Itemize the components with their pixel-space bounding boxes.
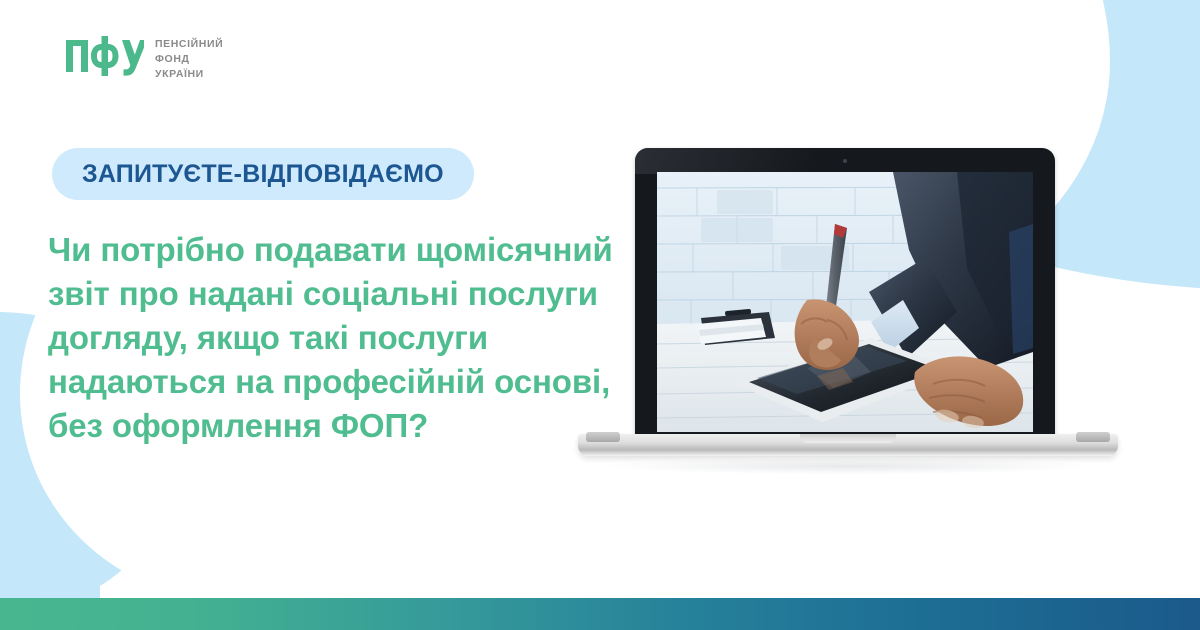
pfu-logo-wordmark: Пенсійний Фонд України (155, 36, 223, 82)
bottom-gradient-bar (0, 598, 1200, 630)
logo-word-line-2: Фонд (155, 53, 223, 67)
headline-line: Чи потрібно подавати щомісячний (48, 228, 648, 272)
photo-signing-on-tablet (657, 172, 1033, 432)
question-headline: Чи потрібно подавати щомісячний звіт про… (48, 228, 648, 448)
laptop-base-notch (800, 434, 896, 443)
laptop-lid (635, 148, 1055, 440)
laptop-screen (657, 172, 1033, 432)
poster-canvas: Пенсійний Фонд України ЗАПИТУЄТЕ-ВІДПОВІ… (0, 0, 1200, 630)
category-badge-label: ЗАПИТУЄТЕ-ВІДПОВІДАЄМО (82, 160, 444, 189)
webcam-dot-icon (843, 159, 847, 163)
headline-line: надаються на професійній основі, (48, 360, 648, 404)
headline-line: догляду, якщо такі послуги (48, 316, 648, 360)
headline-line: звіт про надані соціальні послуги (48, 272, 648, 316)
laptop-illustration (578, 148, 1118, 478)
pfu-logo-mark-icon (66, 36, 144, 81)
laptop-bezel-sheen (635, 148, 815, 174)
laptop-shadow (608, 458, 1088, 474)
logo-word-line-3: України (155, 68, 223, 82)
laptop-hinge-right (1076, 432, 1110, 442)
logo-word-line-1: Пенсійний (155, 38, 223, 52)
headline-line: без оформлення ФОП? (48, 404, 648, 448)
laptop-hinge-left (586, 432, 620, 442)
category-badge: ЗАПИТУЄТЕ-ВІДПОВІДАЄМО (52, 148, 474, 200)
pfu-logo[interactable]: Пенсійний Фонд України (66, 36, 223, 82)
